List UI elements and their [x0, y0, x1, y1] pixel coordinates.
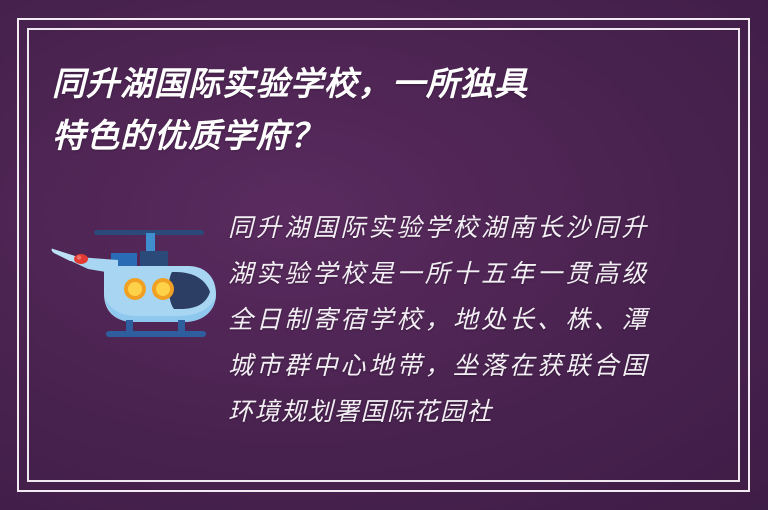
- page-title: 同升湖国际实验学校，一所独具 特色的优质学府？: [52, 58, 652, 162]
- article-paragraph: 同升湖国际实验学校湖南长沙同升湖实验学校是一所十五年一贯高级全日制寄宿学校，地处…: [228, 205, 648, 435]
- title-line-2: 特色的优质学府？: [52, 110, 652, 162]
- tail-light-highlight-icon: [77, 255, 81, 259]
- skid-strut-right-icon: [178, 320, 185, 332]
- hero-card: 同升湖国际实验学校，一所独具 特色的优质学府？: [0, 0, 768, 510]
- article-body: 同升湖国际实验学校湖南长沙同升湖实验学校是一所十五年一贯高级全日制寄宿学校，地处…: [228, 205, 648, 435]
- porthole-right-inner-icon: [156, 282, 170, 296]
- tail-light-icon: [74, 254, 88, 264]
- helicopter-illustration: [48, 212, 228, 352]
- skid-strut-left-icon: [126, 320, 133, 332]
- engine-housing-right-icon: [140, 251, 168, 268]
- landing-skid-icon: [106, 331, 206, 337]
- title-line-1: 同升湖国际实验学校，一所独具: [52, 58, 652, 110]
- porthole-left-inner-icon: [128, 282, 142, 296]
